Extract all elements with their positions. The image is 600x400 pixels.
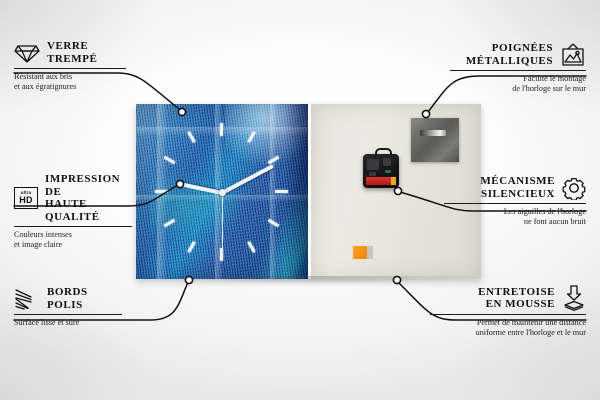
callout-header: VERRE TREMPÉ <box>14 40 132 65</box>
callout-divider <box>450 70 586 71</box>
movement-detail <box>369 172 376 176</box>
callout-divider <box>14 68 126 69</box>
callout-header: POIGNÉES MÉTALLIQUES <box>446 42 586 67</box>
product-image <box>136 104 481 279</box>
callout-mecanisme-silencieux: MÉCANISME SILENCIEUX Les aiguilles de l'… <box>440 175 586 226</box>
callout-header: MÉCANISME SILENCIEUX <box>440 175 586 200</box>
callout-subtitle: Résistant aux bris et aux égratignures <box>14 72 132 91</box>
hour-tick <box>220 123 223 136</box>
foam-pad-shadow <box>367 246 373 259</box>
callout-verre-trempe: VERRE TREMPÉ Résistant aux bris et aux é… <box>14 40 132 91</box>
polished-edge-icon <box>14 288 40 310</box>
callout-poignees-metalliques: POIGNÉES MÉTALLIQUES Facilite le montage… <box>446 42 586 93</box>
hour-tick <box>155 190 168 193</box>
movement-detail <box>367 159 379 170</box>
callout-impression-haute-qualite: ultra HD IMPRESSION DE HAUTE QUALITÉ Cou… <box>14 173 136 249</box>
callout-divider <box>430 314 586 315</box>
foam-spacer-icon <box>562 285 586 311</box>
callout-divider <box>14 314 122 315</box>
callout-subtitle: Facilite le montage de l'horloge sur le … <box>446 74 586 93</box>
metal-hanger-plate <box>411 118 459 162</box>
callout-title: IMPRESSION DE HAUTE QUALITÉ <box>45 173 136 223</box>
callout-header: ultra HD IMPRESSION DE HAUTE QUALITÉ <box>14 173 136 223</box>
callout-title: BORDS POLIS <box>47 286 88 311</box>
callout-divider <box>444 203 586 204</box>
infographic-canvas: VERRE TREMPÉ Résistant aux bris et aux é… <box>0 0 600 400</box>
second-hand <box>222 192 224 254</box>
movement-detail <box>385 170 391 173</box>
callout-title: MÉCANISME SILENCIEUX <box>480 175 555 200</box>
callout-subtitle: Couleurs intenses et image claire <box>14 230 136 249</box>
callout-title: ENTRETOISE EN MOUSSE <box>478 286 555 311</box>
diamond-icon <box>14 43 40 63</box>
gear-icon <box>562 176 586 200</box>
movement-detail <box>383 158 391 166</box>
callout-subtitle: Surface lisse et sûre <box>14 318 126 328</box>
callout-header: BORDS POLIS <box>14 286 126 311</box>
hanger-slot <box>420 130 446 136</box>
callout-entretoise-en-mousse: ENTRETOISE EN MOUSSE Permet de maintenir… <box>426 285 586 337</box>
quartz-movement-box <box>363 154 399 188</box>
callout-subtitle: Permet de maintenir une distance uniform… <box>426 318 586 337</box>
battery <box>366 177 396 185</box>
battery-terminal <box>391 177 396 185</box>
callout-subtitle: Les aiguilles de l'horloge ne font aucun… <box>440 207 586 226</box>
callout-header: ENTRETOISE EN MOUSSE <box>426 285 586 311</box>
clock-front-face <box>136 104 308 279</box>
product-drop-shadow <box>140 276 480 284</box>
ultra-hd-icon: ultra HD <box>14 187 38 209</box>
hanging-frame-icon <box>560 43 586 67</box>
hand-cap <box>219 189 226 196</box>
ultra-hd-icon-bottom-label: HD <box>19 196 33 205</box>
pattern-teal-wave <box>150 167 253 244</box>
callout-bords-polis: BORDS POLIS Surface lisse et sûre <box>14 286 126 328</box>
hour-tick <box>275 190 288 193</box>
callout-title: VERRE TREMPÉ <box>47 40 97 65</box>
foam-spacer-pad <box>353 246 367 259</box>
callout-divider <box>14 226 132 227</box>
callout-title: POIGNÉES MÉTALLIQUES <box>466 42 553 67</box>
